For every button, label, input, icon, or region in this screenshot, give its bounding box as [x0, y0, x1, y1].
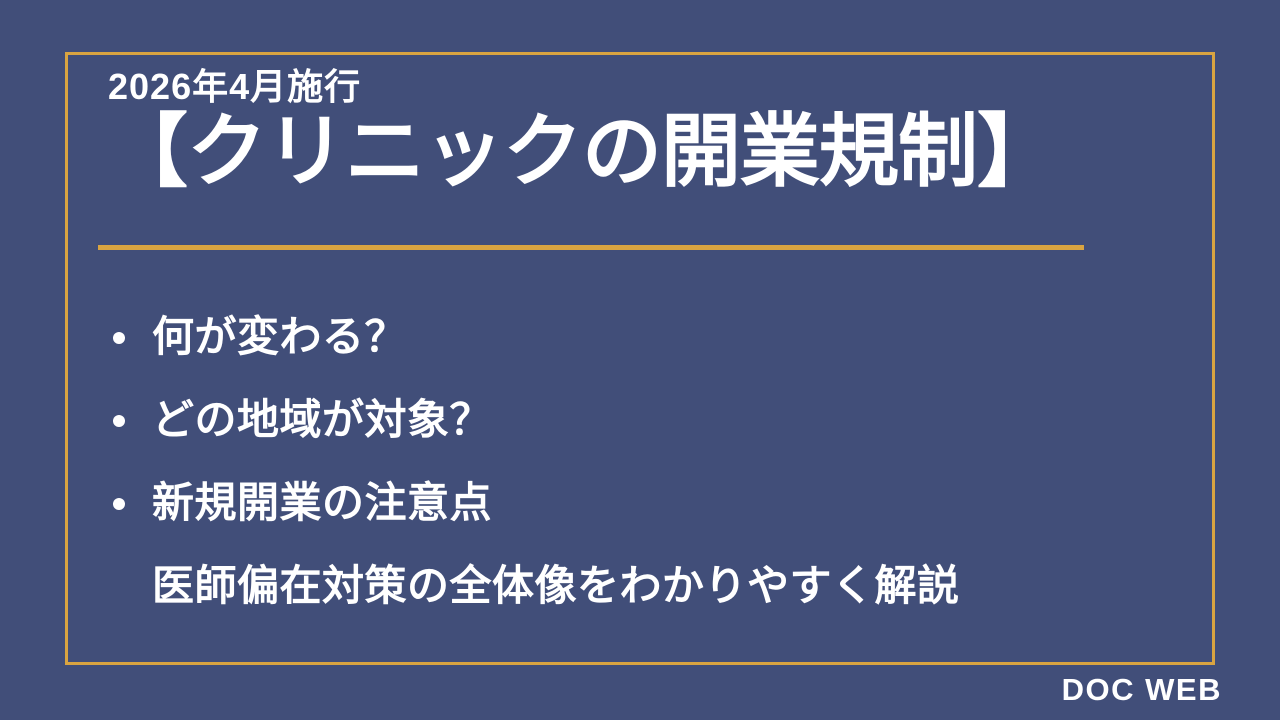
list-item-label: 何が変わる？: [152, 314, 407, 360]
list-item-label: どの地域が対象？: [152, 397, 492, 443]
eyebrow-text: 2026年4月施行: [108, 66, 1108, 108]
page-title: 【クリニックの開業規制】: [108, 106, 1108, 197]
slide-subtitle: 医師偏在対策の全体像をわかりやすく解説: [152, 563, 960, 609]
list-item-label: 新規開業の注意点: [152, 480, 492, 526]
bullet-dot-icon: [113, 498, 125, 510]
bullet-list: 何が変わる？ どの地域が対象？ 新規開業の注意点: [108, 296, 1108, 545]
brand-logo-text: DOC WEB: [1062, 672, 1222, 708]
list-item: 何が変わる？: [108, 296, 1108, 379]
slide-header: 2026年4月施行 【クリニックの開業規制】: [108, 66, 1108, 198]
presentation-slide: 2026年4月施行 【クリニックの開業規制】 何が変わる？ どの地域が対象？ 新…: [0, 0, 1280, 720]
bullet-dot-icon: [113, 415, 125, 427]
title-divider: [98, 245, 1084, 250]
list-item: 新規開業の注意点: [108, 462, 1108, 545]
bullet-dot-icon: [113, 332, 125, 344]
list-item: どの地域が対象？: [108, 379, 1108, 462]
